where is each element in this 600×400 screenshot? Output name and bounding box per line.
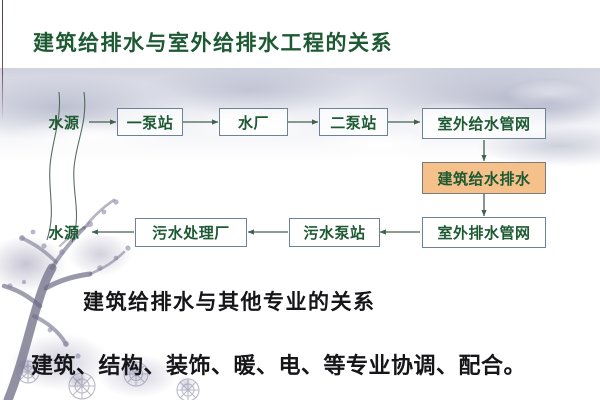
node-outdoor-drainage-network[interactable]: 室外排水管网	[422, 217, 546, 248]
node-sewage-pump-station[interactable]: 污水泵站	[289, 218, 380, 247]
node-source-bottom[interactable]: 水源	[40, 220, 88, 244]
process-flow-diagram: 水源 一泵站 水厂 二泵站 室外给水管网 建筑给水排水 室外排水管网 污水泵站 …	[0, 0, 600, 400]
node-sewage-treatment-plant[interactable]: 污水处理厂	[135, 218, 247, 247]
node-building-water-supply-drainage[interactable]: 建筑给水排水	[422, 162, 546, 194]
node-pump-station-2[interactable]: 二泵站	[319, 108, 388, 136]
diagram-connectors	[0, 0, 600, 400]
node-outdoor-supply-network[interactable]: 室外给水管网	[422, 108, 546, 139]
node-source-top[interactable]: 水源	[40, 110, 88, 134]
river-wave-decoration	[0, 0, 600, 400]
node-pump-station-1[interactable]: 一泵站	[117, 108, 183, 136]
slide-canvas: 建筑给排水与室外给排水工程的关系 建筑给排水与其他专业的关系 建筑、结构、装饰、…	[0, 0, 600, 400]
node-water-plant[interactable]: 水厂	[219, 108, 288, 136]
